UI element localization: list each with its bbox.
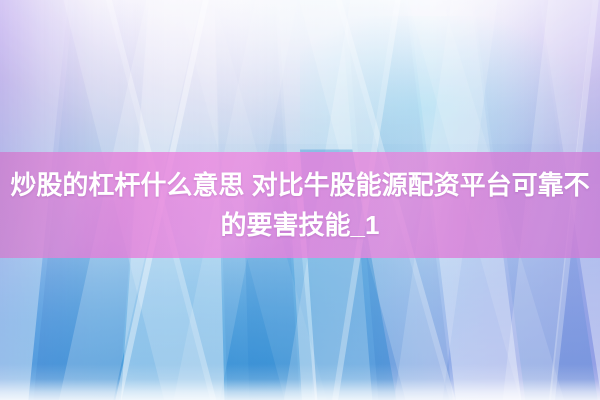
banner-image: 炒股的杠杆什么意思 对比牛股能源配资平台可靠不的要害技能_1 <box>0 0 600 400</box>
background-bottom-haze <box>0 364 600 400</box>
banner-title: 炒股的杠杆什么意思 对比牛股能源配资平台可靠不的要害技能_1 <box>0 165 600 245</box>
title-band: 炒股的杠杆什么意思 对比牛股能源配资平台可靠不的要害技能_1 <box>0 152 600 258</box>
